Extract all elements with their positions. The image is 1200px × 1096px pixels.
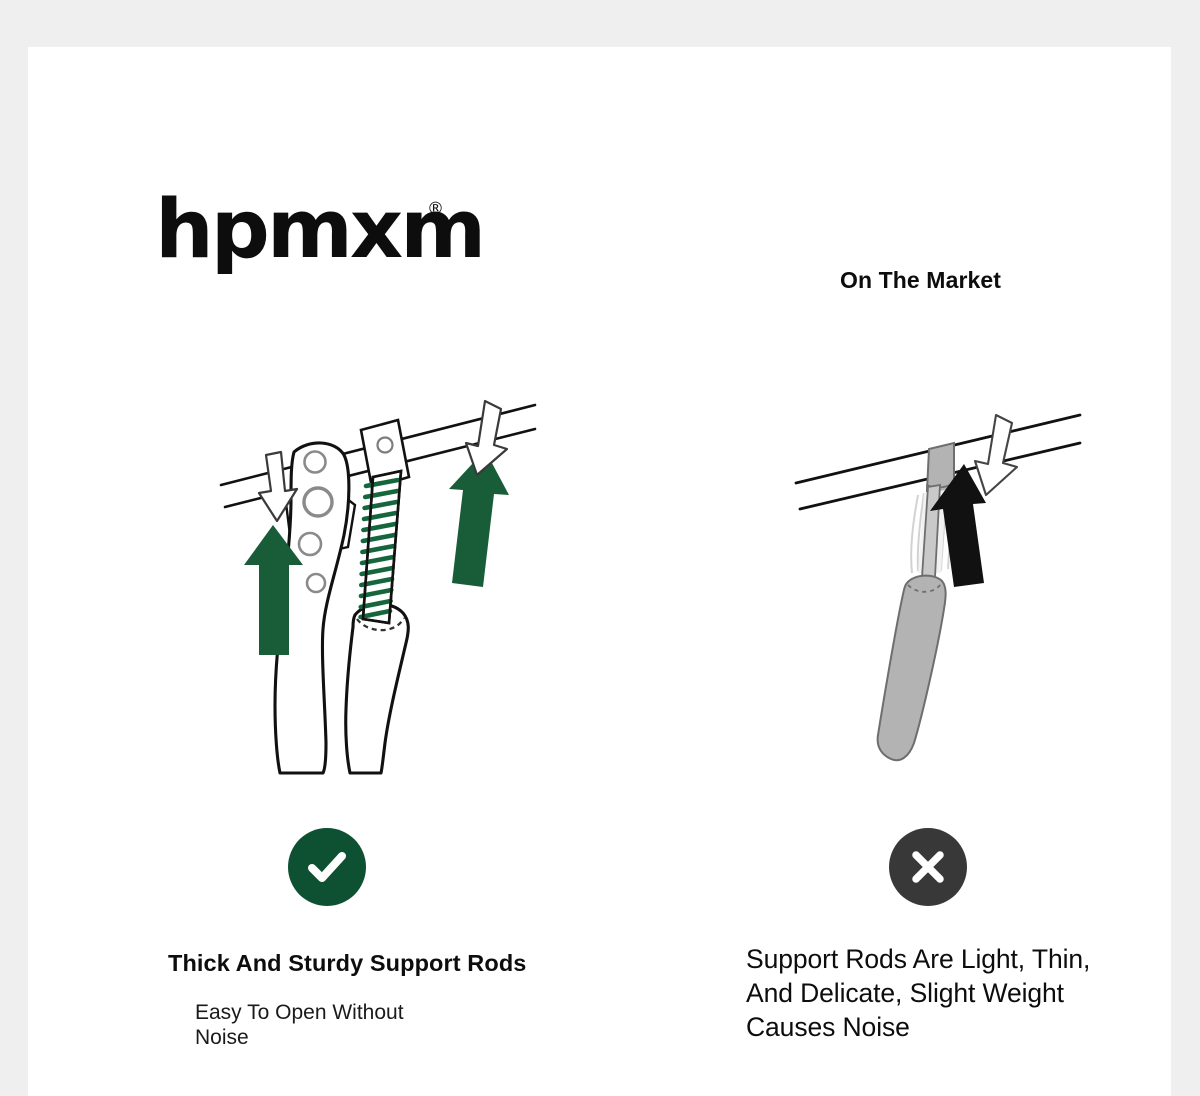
arm-hole-2 [304, 488, 332, 516]
bracket-bolt-hole [378, 438, 393, 453]
close-icon [907, 846, 949, 888]
rod-cylinder-body [878, 576, 946, 761]
arrow-down-right-outline [975, 415, 1017, 495]
column-header-on-the-market: On The Market [840, 267, 1001, 294]
thin-support-rod-svg [788, 387, 1088, 787]
illustration-thick-support-rod [213, 387, 543, 792]
spring-support-rod [361, 471, 401, 623]
check-icon [304, 844, 350, 890]
left-feature-title: Thick And Sturdy Support Rods [168, 950, 526, 977]
right-feature-title: Support Rods Are Light, Thin, And Delica… [746, 943, 1101, 1045]
left-feature-subtitle: Easy To Open Without Noise [195, 1000, 445, 1050]
status-badge-positive [288, 828, 366, 906]
illustration-thin-support-rod [788, 387, 1088, 792]
arm-hole-3 [299, 533, 321, 555]
status-badge-negative [889, 828, 967, 906]
brand-logo: hpmxm ® [155, 190, 485, 290]
page-root: hpmxm ® On The Market [0, 0, 1200, 1096]
arm-hole-4 [307, 574, 325, 592]
registered-trademark-icon: ® [427, 199, 444, 219]
rod-socket-leg [346, 604, 409, 773]
thick-support-rod-svg [213, 387, 543, 787]
comparison-card: hpmxm ® On The Market [28, 47, 1171, 1096]
arm-hole-1 [305, 452, 326, 473]
